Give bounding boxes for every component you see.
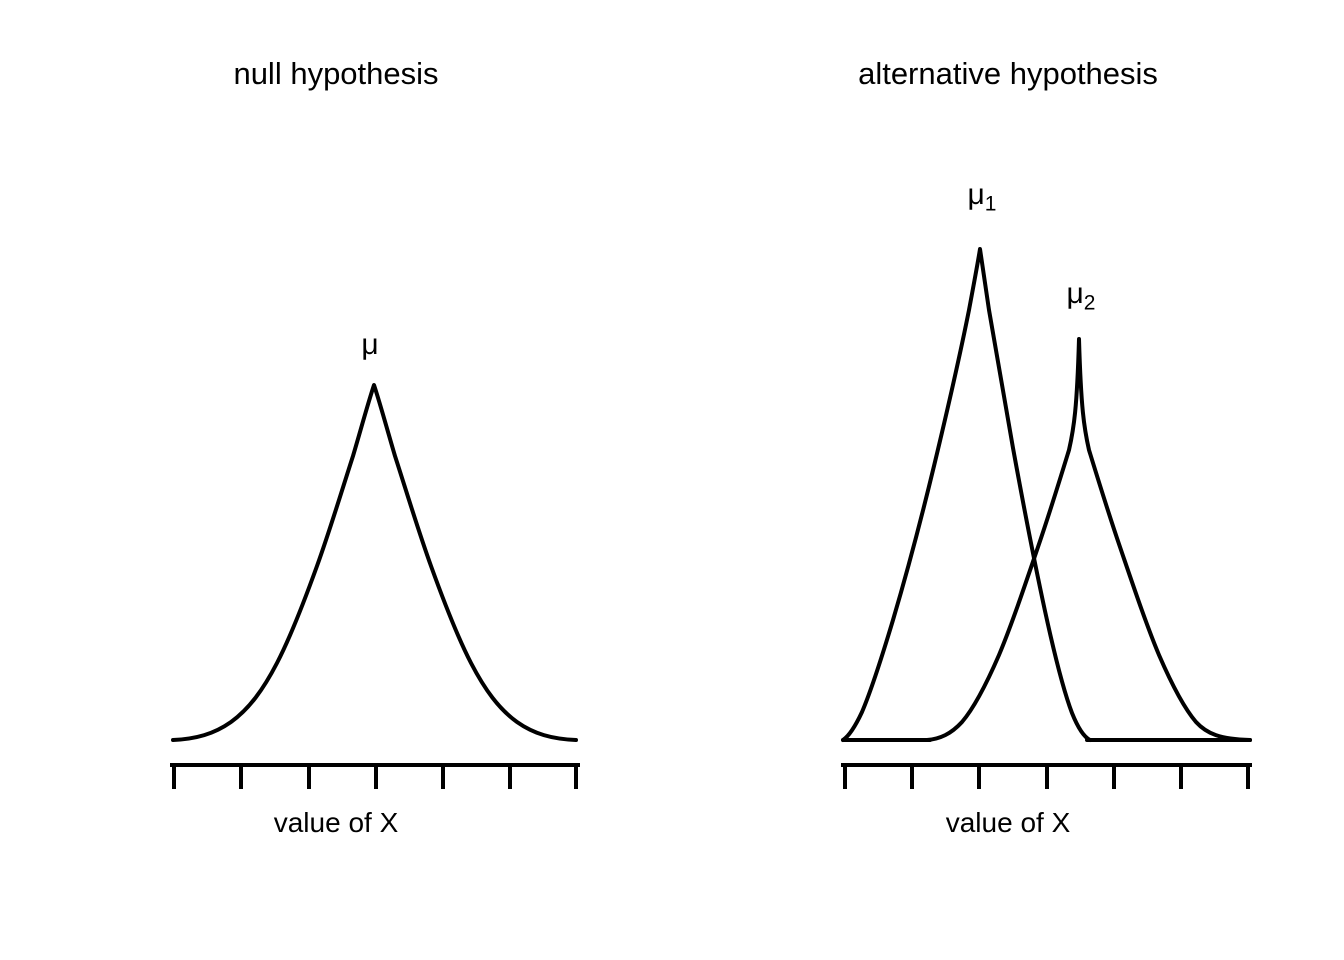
x-axis-ticks-alt <box>845 765 1248 789</box>
panel-alternative-hypothesis: alternative hypothesis μ1 <box>672 0 1344 960</box>
x-axis-label-null: value of X <box>0 807 672 839</box>
curve-label-mu-2: μ2 <box>1050 279 1112 318</box>
panel-null-hypothesis: null hypothesis μ value of X <box>0 0 672 960</box>
mu-subscript: 1 <box>985 192 997 215</box>
mu-subscript: 2 <box>1084 291 1096 314</box>
mu-glyph: μ <box>968 178 985 211</box>
curve-label-mu-1: μ1 <box>952 180 1012 219</box>
curve-mu-2 <box>927 339 1250 740</box>
figure-root: null hypothesis μ value of X alternati <box>0 0 1344 960</box>
mu-glyph: μ <box>1067 277 1084 310</box>
x-axis-label-alt: value of X <box>672 807 1344 839</box>
curve-mu-null <box>173 385 576 740</box>
curve-label-mu: μ <box>340 330 400 360</box>
curve-mu-1 <box>843 249 1090 740</box>
mu-glyph: μ <box>361 328 378 361</box>
x-axis-ticks-null <box>174 765 576 789</box>
